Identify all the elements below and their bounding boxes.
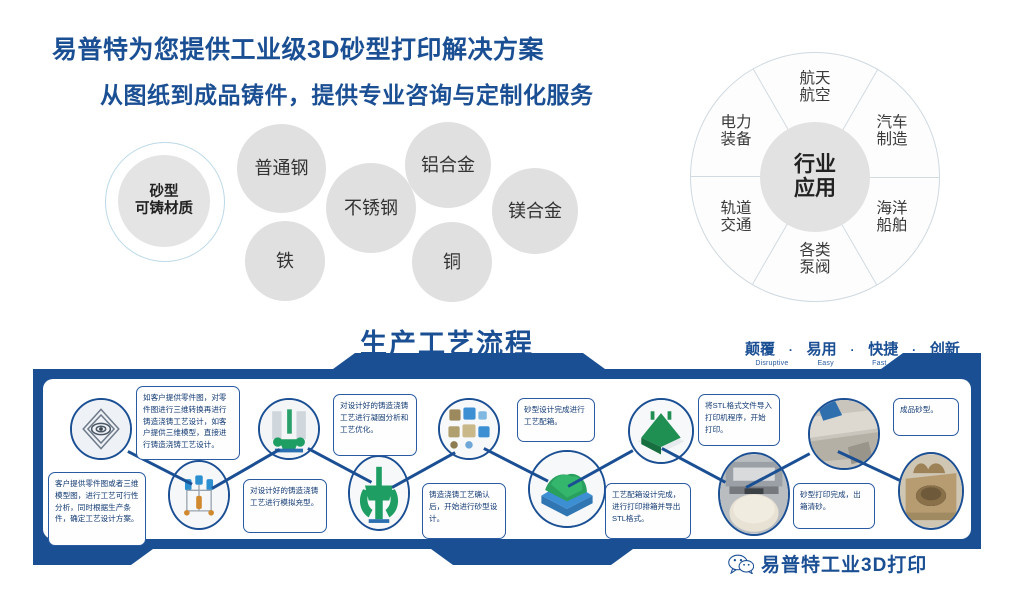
bottom-white-strip (0, 586, 1012, 608)
callout-step-4: 对设计好的铸造浇铸工艺进行凝固分析和工艺优化。 (333, 394, 417, 456)
wheel-segment-5[interactable]: 电力 装备 (706, 114, 766, 148)
flow-node-6[interactable] (528, 450, 606, 528)
material-bubble-3[interactable]: 铝合金 (405, 122, 491, 208)
wechat-icon (728, 554, 754, 574)
cad-model-icon (170, 462, 228, 528)
callout-step-6: 砂型设计完成进行工艺配箱。 (517, 398, 595, 442)
callout-step-3: 对设计好的铸造浇铸工艺进行模拟充型。 (243, 479, 327, 533)
callout-step-5: 铸造浇铸工艺确认后，开始进行砂型设计。 (422, 483, 506, 539)
flow-node-2[interactable] (168, 460, 230, 530)
callout-step-8: 将STL格式文件导入打印机程序，开始打印。 (698, 394, 780, 446)
materials-core-bubble: 砂型 可铸材质 (118, 155, 210, 247)
footer-brand: 易普特工业3D打印 (728, 550, 927, 577)
poster-canvas: 易普特为您提供工业级3D砂型打印解决方案 从图纸到成品铸件，提供专业咨询与定制化… (0, 0, 1012, 608)
wheel-segment-1[interactable]: 汽车 制造 (862, 114, 922, 148)
sand-cleaning-icon (810, 400, 878, 468)
material-bubble-0[interactable]: 普通钢 (237, 124, 326, 213)
headline-line-1: 易普特为您提供工业级3D砂型打印解决方案 (52, 30, 672, 66)
footer-brand-text: 易普特工业3D打印 (761, 550, 927, 577)
callout-step-7: 工艺配箱设计完成，进行打印排箱并导出STL格式。 (605, 483, 691, 539)
flow-node-4[interactable] (348, 455, 410, 531)
headline-line-2: 从图纸到成品铸件，提供专业咨询与定制化服务 (52, 76, 672, 110)
flow-node-8[interactable] (718, 452, 790, 536)
wheel-segment-3[interactable]: 各类 泵阀 (784, 242, 846, 276)
callout-step-10: 成品砂型。 (893, 398, 959, 436)
solidification-icon (350, 457, 408, 529)
wheel-segment-4[interactable]: 轨道 交通 (706, 200, 766, 234)
material-bubble-2[interactable]: 不锈钢 (326, 163, 416, 253)
flow-node-10[interactable] (898, 452, 964, 530)
stl-export-icon (630, 400, 692, 462)
printer-icon (720, 454, 788, 534)
wheel-hub: 行业 应用 (760, 122, 870, 232)
box-assembly-icon (530, 452, 604, 526)
callout-step-9: 砂型打印完成，出箱清砂。 (793, 483, 875, 529)
headline-block: 易普特为您提供工业级3D砂型打印解决方案 从图纸到成品铸件，提供专业咨询与定制化… (52, 30, 672, 110)
flow-node-9[interactable] (808, 398, 880, 470)
industry-wheel: 行业 应用 航天 航空 汽车 制造 海洋 船舶 各类 泵阀 轨道 交通 电力 装… (690, 52, 940, 302)
material-bubble-1[interactable]: 铁 (245, 221, 325, 301)
wheel-hub-line-2: 应用 (794, 177, 836, 201)
wheel-hub-line-1: 行业 (794, 153, 836, 177)
callout-step-2: 如客户提供零件图，对零件图进行三维转换再进行铸造浇铸工艺设计，如客户提供三维模型… (136, 386, 240, 460)
wheel-segment-2[interactable]: 海洋 船舶 (862, 200, 922, 234)
finished-mold-icon (900, 454, 962, 528)
blueprint-icon (72, 400, 130, 458)
material-bubble-4[interactable]: 铜 (412, 222, 492, 302)
flow-node-7[interactable] (628, 398, 694, 464)
wheel-segment-0[interactable]: 航天 航空 (784, 70, 846, 104)
material-bubble-5[interactable]: 镁合金 (492, 168, 578, 254)
callout-step-1: 客户提供零件图或者三维模型图，进行工艺可行性分析，同时根据生产条件，确定工艺设计… (48, 472, 146, 546)
flow-node-1[interactable] (70, 398, 132, 460)
